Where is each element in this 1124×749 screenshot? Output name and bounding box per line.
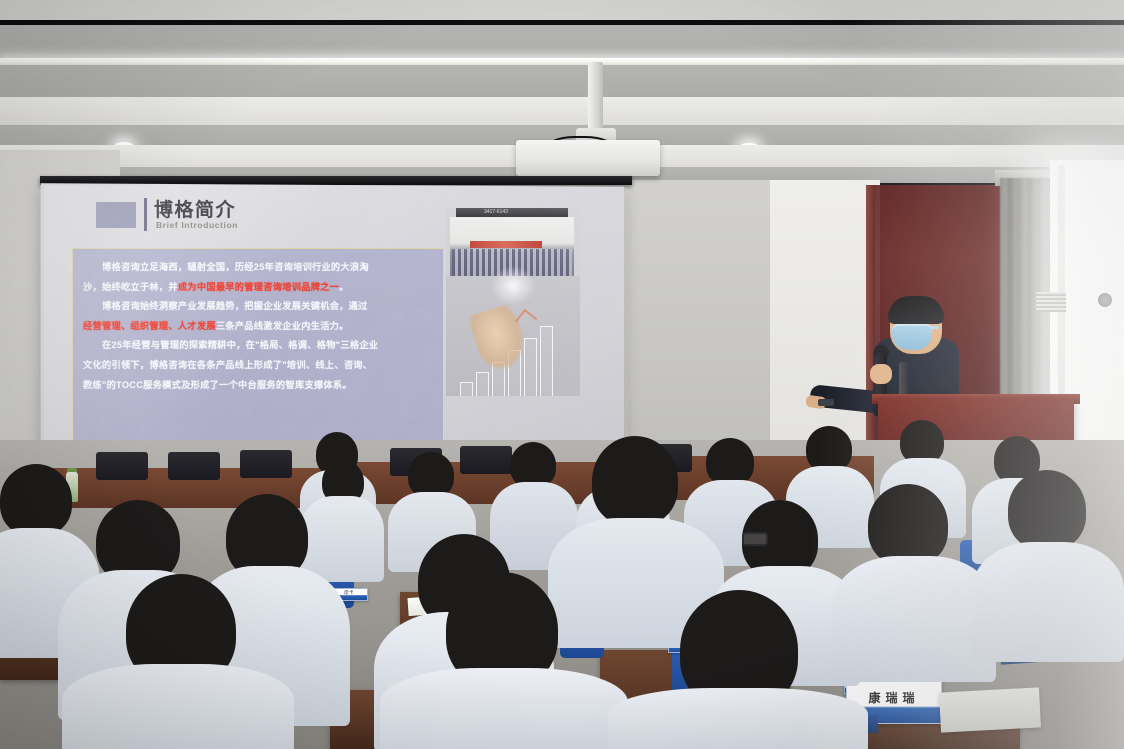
bench-backrest-2 bbox=[168, 452, 220, 480]
slide-text-plain: 。 bbox=[339, 282, 349, 292]
ceiling-projector bbox=[516, 140, 660, 176]
embedded-video-statusbar: 3417-6143 bbox=[456, 208, 568, 217]
slide-embedded-media: 3417-6143 bbox=[446, 208, 580, 396]
slide-text-highlight: 成为中国最早的管理咨询培训品牌之一 bbox=[178, 282, 339, 292]
ceiling-plate-1 bbox=[0, 97, 1124, 125]
ceiling-grey-band-2 bbox=[0, 65, 1124, 97]
slide-line: 博格咨询始终洞察产业发展趋势，把握企业发展关键机会，通过 bbox=[83, 297, 433, 317]
slide-header-divider bbox=[144, 198, 147, 231]
audience-head bbox=[868, 484, 948, 566]
slide-body-panel: 博格咨询立足海西，辐射全国，历经25年咨询培训行业的大浪淘沙，始终屹立于林，并成… bbox=[72, 248, 444, 446]
audience-shirt bbox=[972, 542, 1124, 662]
slide-text-plain: 文化的引领下，博格咨询在各条产品线上形成了"培训、线上、咨询、 bbox=[83, 360, 372, 370]
ceiling-grey-band-1 bbox=[0, 25, 1124, 60]
front-desk-document bbox=[939, 687, 1041, 732]
bench-backrest-5 bbox=[460, 446, 512, 474]
presentation-clicker bbox=[818, 399, 834, 406]
slide-line: 在25年经营与管理的探索精耕中，在"格局、格调、格物"三格企业 bbox=[83, 336, 433, 356]
slide-line: 经营管理、组织管理、人才发展三条产品线激发企业内生活力。 bbox=[83, 317, 433, 337]
slide-line: 博格咨询立足海西，辐射全国，历经25年咨询培训行业的大浪淘 bbox=[83, 258, 433, 278]
slide-text-plain: 教练"的TOCC服务模式及形成了一个中台服务的智库支撑体系。 bbox=[83, 380, 352, 390]
audience-head bbox=[1008, 470, 1086, 550]
embedded-chart-bar bbox=[460, 382, 473, 396]
front-placard-name: 康瑞瑞 bbox=[847, 689, 941, 706]
projector-lens bbox=[1098, 293, 1112, 307]
embedded-photo-glare bbox=[490, 266, 536, 306]
projected-slide: 博格简介 Brief Introduction 博格咨询立足海西，辐射全国，历经… bbox=[48, 188, 618, 466]
bench-backrest-3 bbox=[240, 450, 292, 478]
audience-shirt bbox=[300, 496, 384, 582]
slide-text-plain: 博格咨询立足海西，辐射全国，历经25年咨询培训行业的大浪淘 bbox=[102, 262, 369, 272]
projector-vent bbox=[1036, 292, 1066, 312]
seminar-room-photo: 博格简介 Brief Introduction 博格咨询立足海西，辐射全国，历经… bbox=[0, 0, 1124, 749]
slide-text-plain: 三条产品线激发企业内生活力。 bbox=[216, 321, 349, 331]
presenter-mic-hand bbox=[870, 364, 892, 384]
slide-line: 教练"的TOCC服务模式及形成了一个中台服务的智库支撑体系。 bbox=[83, 376, 433, 396]
eyeglasses bbox=[742, 532, 768, 546]
audience-head bbox=[0, 464, 72, 536]
bench-backrest-1 bbox=[96, 452, 148, 480]
slide-header-square bbox=[96, 202, 136, 228]
embedded-video-code: 3417-6143 bbox=[484, 209, 508, 215]
slide-text-block: 博格咨询立足海西，辐射全国，历经25年咨询培训行业的大浪淘沙，始终屹立于林，并成… bbox=[83, 258, 433, 395]
slide-title: 博格简介 bbox=[154, 195, 236, 222]
audience-head bbox=[706, 438, 754, 486]
audience-head bbox=[592, 436, 678, 526]
presenter-face-mask bbox=[892, 324, 932, 350]
presenter-hair bbox=[888, 296, 944, 324]
hall-stage-banner bbox=[470, 241, 542, 248]
slide-line: 沙，始终屹立于林，并成为中国最早的管理咨询培训品牌之一。 bbox=[83, 278, 433, 298]
slide-subtitle: Brief Introduction bbox=[156, 220, 238, 230]
slide-line: 文化的引领下，博格咨询在各条产品线上形成了"培训、线上、咨询、 bbox=[83, 356, 433, 376]
face-mask-earloop bbox=[930, 326, 939, 329]
embedded-chart-bar bbox=[540, 326, 553, 396]
slide-text-plain: 在25年经营与管理的探索精耕中，在"格局、格调、格物"三格企业 bbox=[102, 340, 378, 350]
slide-text-plain: 博格咨询始终洞察产业发展趋势，把握企业发展关键机会，通过 bbox=[102, 301, 368, 311]
audience-shirt bbox=[380, 668, 628, 749]
slide-text-highlight: 经营管理、组织管理、人才发展 bbox=[83, 321, 216, 331]
ceiling-light-strip-1 bbox=[0, 58, 1124, 65]
audience-shirt bbox=[62, 664, 294, 749]
audience-shirt bbox=[608, 688, 868, 749]
slide-text-plain: 沙，始终屹立于林，并 bbox=[83, 282, 178, 292]
